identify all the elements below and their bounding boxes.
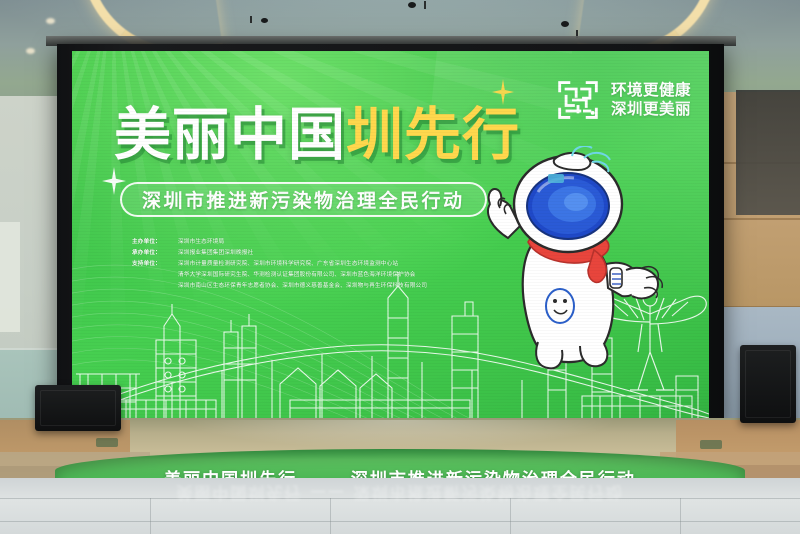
wall-poster [0, 222, 20, 332]
downlight [26, 48, 35, 54]
wall-right-dark-panel [736, 90, 800, 215]
ceiling-fixture-stem [424, 1, 426, 9]
pa-speaker-right [740, 345, 796, 423]
tile-line [680, 498, 681, 534]
ceiling-fixture [408, 2, 416, 8]
stage-marker [700, 440, 722, 449]
ceiling-fixture-stem [250, 16, 252, 23]
apron-text-reflection: 美丽中国圳先行 —— 深圳市推进新污染物治理全民行动 [140, 480, 660, 506]
ceiling-fixture [261, 18, 268, 23]
screen-scanlines [72, 51, 709, 418]
ceiling-fixture [561, 21, 569, 27]
led-screen: 环境更健康 深圳更美丽 美丽中国圳先行 深圳市推进新污染物治理全民行动 主办单位… [72, 51, 709, 418]
downlight [46, 18, 55, 24]
pa-speaker-left [35, 385, 121, 431]
event-hall-scene: 环境更健康 深圳更美丽 美丽中国圳先行 深圳市推进新污染物治理全民行动 主办单位… [0, 0, 800, 534]
speaker-grill [40, 390, 116, 426]
speaker-grill [745, 350, 791, 418]
stage-marker [96, 438, 118, 447]
